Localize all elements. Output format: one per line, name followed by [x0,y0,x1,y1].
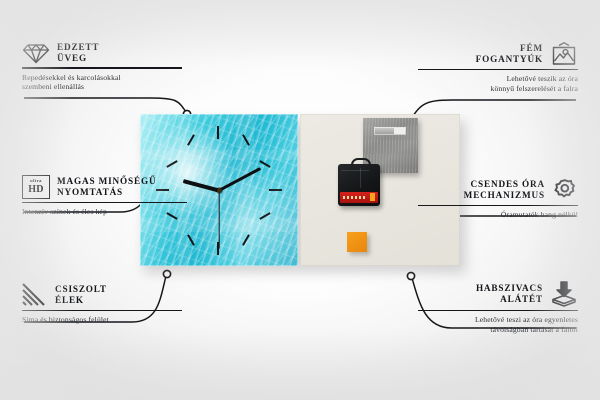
battery-label [343,196,367,199]
callout-silent-movement: CSENDES ÓRA MECHANIZMUS Óramutatók hang … [418,178,578,220]
foam-pad-icon [550,281,578,307]
callout-divider [418,69,578,70]
diamond-icon [22,42,50,64]
callout-title: CSISZOLT ÉLEK [55,284,107,306]
gear-icon [552,178,578,202]
callout-header: EDZETT ÜVEG [22,42,182,64]
callout-title: HABSZIVACS ALÁTÉT [418,283,543,305]
infographic-canvas: EDZETT ÜVEG Repedésekkel és karcolásokka… [0,0,600,400]
mechanism-seam [341,170,369,171]
callout-header: CSISZOLT ÉLEK [22,283,182,307]
callout-divider [418,205,578,206]
ultra-hd-icon: ultra HD [22,175,50,199]
callout-tempered-glass: EDZETT ÜVEG Repedésekkel és karcolásokka… [22,42,182,92]
callout-divider [22,202,187,203]
picture-hanger-icon [550,42,578,66]
callout-title: MAGAS MINŐSÉGŰ NYOMTATÁS [57,176,156,198]
hanger-slot [374,127,406,135]
callout-divider [22,67,182,68]
callout-divider [22,310,182,311]
polished-edge-icon [22,283,48,307]
battery [340,192,378,203]
callout-polished-edges: CSISZOLT ÉLEK Sima és biztonságos felüle… [22,283,182,325]
callout-title: FÉM FOGANTYÚK [418,43,543,65]
callout-header: ultra HD MAGAS MINŐSÉGŰ NYOMTATÁS [22,175,187,199]
callout-header: HABSZIVACS ALÁTÉT [418,281,578,307]
callout-title: EDZETT ÜVEG [57,42,99,64]
quartz-clock-mechanism [338,164,380,206]
callout-metal-hangers: FÉM FOGANTYÚK Lehetővé teszik az óra kön… [418,42,578,94]
callout-header: CSENDES ÓRA MECHANIZMUS [418,178,578,202]
callout-foam-spacer: HABSZIVACS ALÁTÉT Lehetővé teszi az óra … [418,281,578,335]
foam-spacer-pad [347,232,367,252]
callout-divider [418,310,578,311]
product-assembly [140,114,460,266]
callout-high-quality-print: ultra HD MAGAS MINŐSÉGŰ NYOMTATÁS Intenz… [22,175,187,217]
callout-title: CSENDES ÓRA MECHANIZMUS [418,179,545,201]
mechanism-seam [360,168,361,188]
callout-header: FÉM FOGANTYÚK [418,42,578,66]
hanger-loop [351,158,371,170]
